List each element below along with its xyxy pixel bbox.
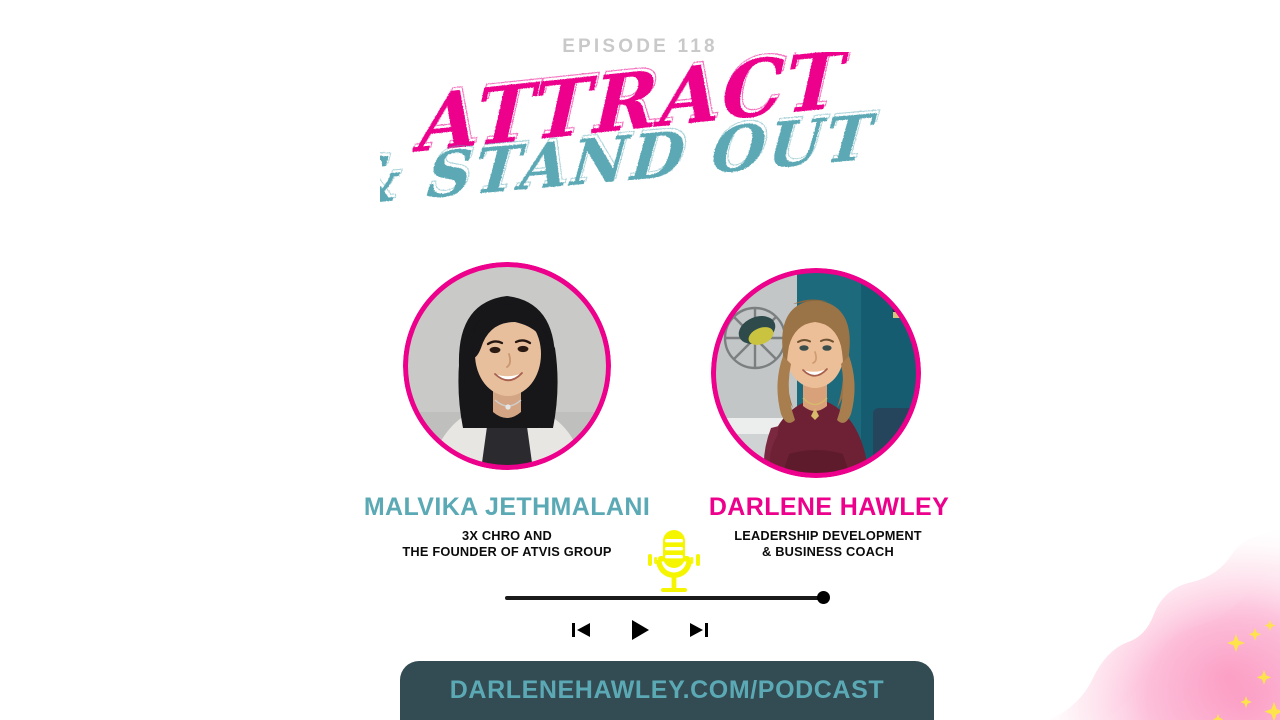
- podcast-url-text: DARLENEHAWLEY.COM/PODCAST: [450, 676, 884, 705]
- guest-portraits: [0, 262, 1280, 492]
- progress-scrubber-track[interactable]: [505, 596, 823, 600]
- audio-player: [0, 585, 1280, 647]
- guest-photo-malvika: [403, 262, 611, 470]
- guest-photo-darlene: [711, 268, 921, 478]
- next-track-button[interactable]: [688, 620, 710, 640]
- play-button[interactable]: [628, 618, 652, 642]
- previous-track-button[interactable]: [570, 620, 592, 640]
- microphone-icon: [645, 526, 703, 594]
- podcast-title-artwork: ATTRACT ATTRACT & STAND OUT & STAND OUT: [0, 52, 1280, 217]
- guest-name-darlene: DARLENE HAWLEY: [629, 493, 1029, 522]
- podcast-url-bar[interactable]: DARLENEHAWLEY.COM/PODCAST: [400, 661, 934, 720]
- transport-controls: [0, 618, 1280, 642]
- guest-role-malvika: 3X CHRO AND THE FOUNDER OF ATVIS GROUP: [327, 528, 687, 559]
- progress-scrubber-handle[interactable]: [817, 591, 830, 604]
